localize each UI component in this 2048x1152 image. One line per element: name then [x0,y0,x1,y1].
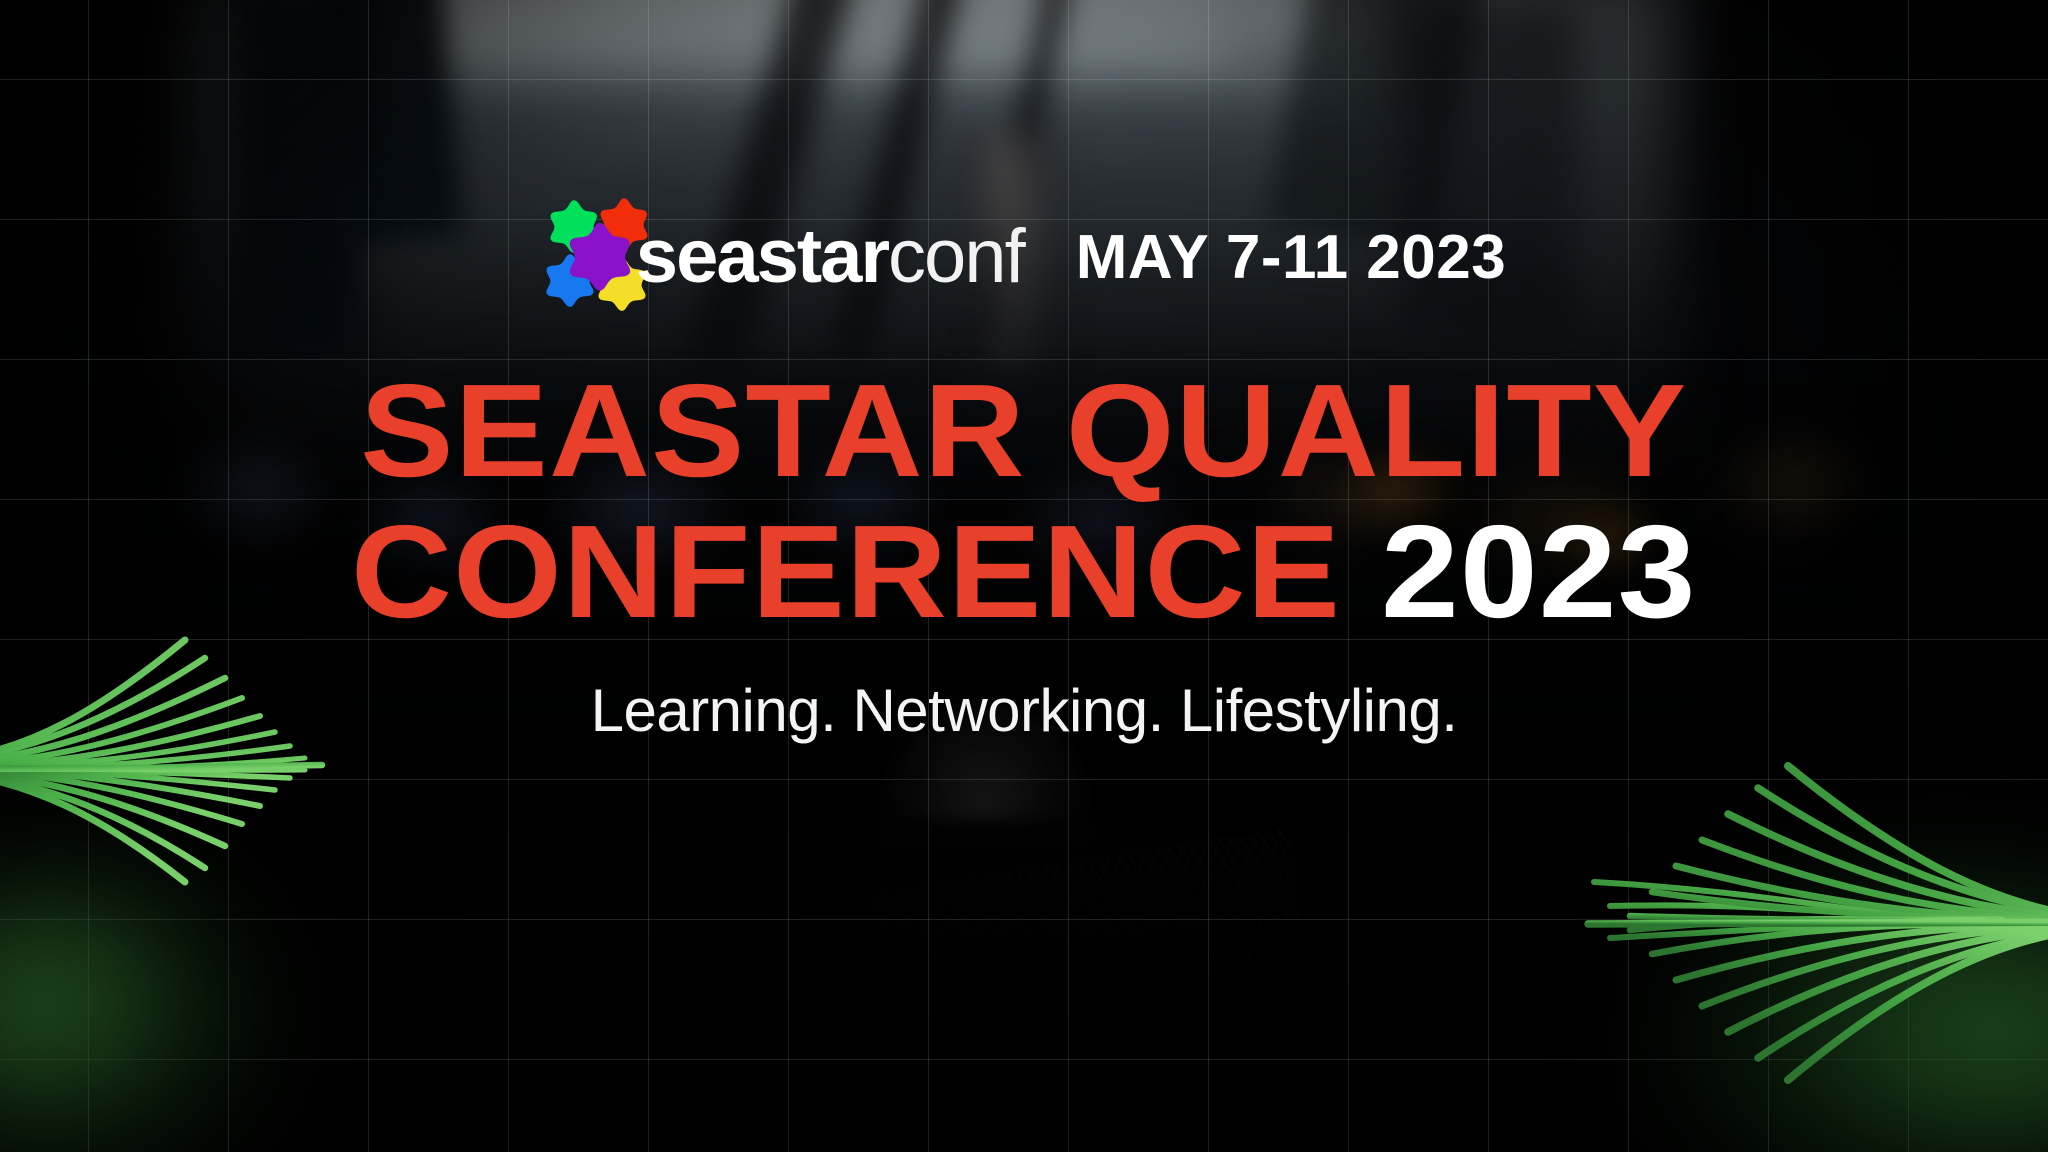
event-dates: MAY 7-11 2023 [1076,222,1507,293]
tagline: Learning. Networking. Lifestyling. [591,676,1458,745]
headline-line-2-accent: CONFERENCE [351,498,1341,645]
headline-line-2: CONFERENCE 2023 [351,501,1697,642]
wordmark-bold: seastar [636,214,888,299]
seastarconf-logo[interactable]: seastarconf [542,196,1024,318]
poster-content: seastarconf MAY 7-11 2023 SEASTAR QUALIT… [0,0,2048,1152]
conference-poster: seastarconf MAY 7-11 2023 SEASTAR QUALIT… [0,0,2048,1152]
wordmark-light: conf [888,214,1024,299]
headline-line-1: SEASTAR QUALITY [351,360,1697,501]
headline-line-1-text: SEASTAR QUALITY [360,357,1687,504]
logo-row: seastarconf MAY 7-11 2023 [542,196,1506,318]
headline-line-2-year: 2023 [1341,498,1696,645]
page-title: SEASTAR QUALITY CONFERENCE 2023 [351,360,1697,642]
wordmark: seastarconf [636,219,1024,295]
